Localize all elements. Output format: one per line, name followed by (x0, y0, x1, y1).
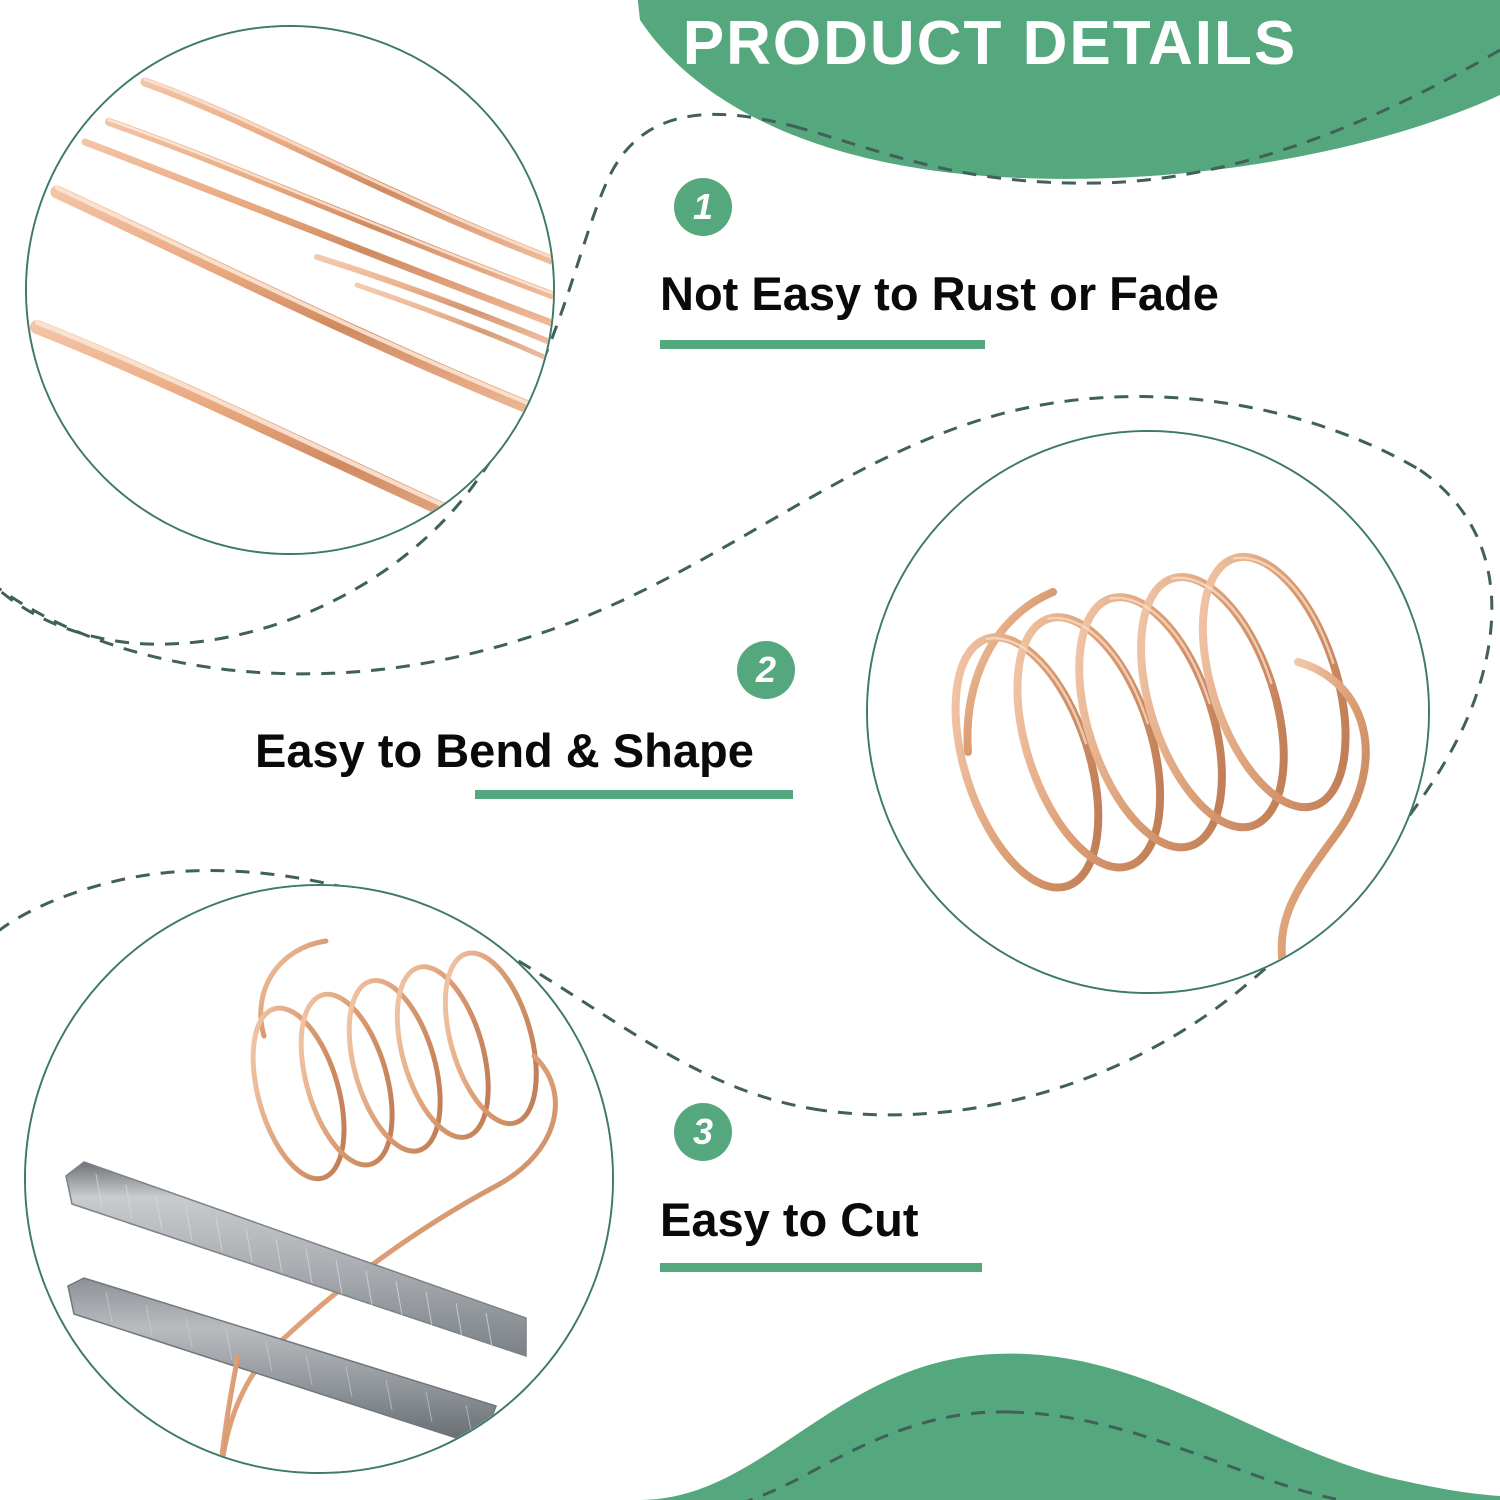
feature-underline-3 (660, 1263, 982, 1272)
feature-number-badge-1: 1 (674, 178, 732, 236)
page-title: PRODUCT DETAILS (640, 8, 1340, 79)
copper-wire-strands-illustration (27, 27, 555, 555)
feature-number-badge-2: 2 (737, 641, 795, 699)
footer-green-wave (640, 1354, 1500, 1500)
feature-title-1: Not Easy to Rust or Fade (660, 266, 1219, 321)
dashed-curve-bottom (1010, 1412, 1500, 1500)
feature-underline-2 (475, 790, 793, 799)
copper-wire-coil-illustration (868, 432, 1430, 994)
feature-number-badge-3: 3 (674, 1103, 732, 1161)
feature-title-2: Easy to Bend & Shape (255, 723, 754, 778)
feature-title-3: Easy to Cut (660, 1192, 919, 1247)
scissors-cutting-wire-photo (24, 884, 614, 1474)
copper-wire-strands-photo (25, 25, 555, 555)
copper-wire-coil-photo (866, 430, 1430, 994)
scissors-cutting-wire-illustration (26, 886, 614, 1474)
feature-underline-1 (660, 340, 985, 349)
dashed-curve-bottom-left (680, 1412, 1010, 1500)
product-details-infographic: PRODUCT DETAILS 1 Not Easy to Rust or Fa… (0, 0, 1500, 1500)
